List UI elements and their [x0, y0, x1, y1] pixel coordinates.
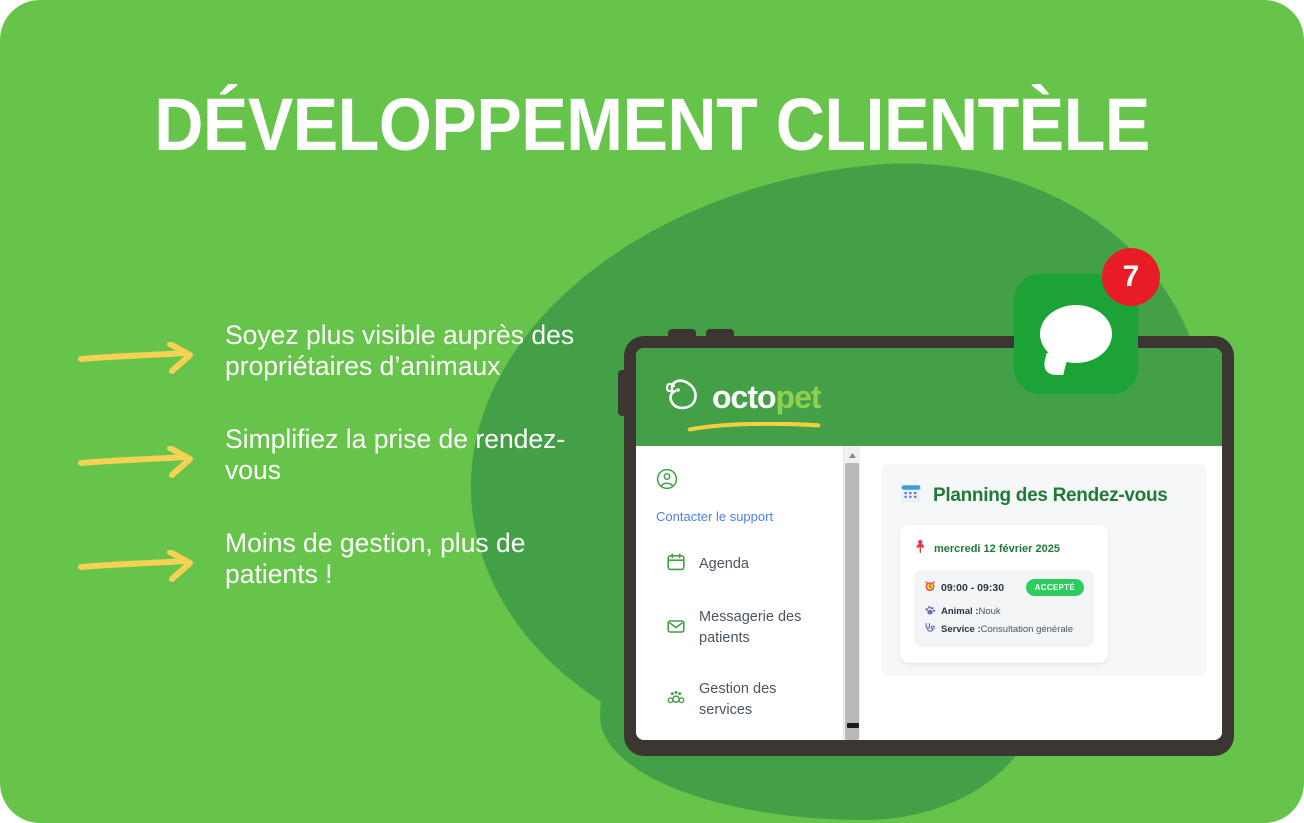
- tablet-button-side: [618, 370, 626, 416]
- calendar-icon: [666, 552, 686, 577]
- slot-header: 09:00 - 09:30 ACCEPTÉ: [924, 579, 1084, 596]
- paw-group-icon: [666, 688, 686, 713]
- arrow-right-icon: [78, 424, 223, 480]
- bullet-list: Soyez plus visible auprès des propriétai…: [78, 320, 598, 632]
- tablet-button-top-left: [668, 329, 696, 339]
- scroll-up-arrow-icon[interactable]: [844, 448, 860, 462]
- appointment-date-row: mercredi 12 février 2025: [914, 539, 1094, 558]
- sidebar-item-services[interactable]: Gestion des services: [666, 679, 843, 721]
- sidebar-item-messagerie[interactable]: Messagerie des patients: [666, 607, 843, 649]
- list-item-label: Soyez plus visible auprès des propriétai…: [223, 320, 583, 383]
- notification-badge: 7: [1102, 248, 1160, 306]
- list-item: Soyez plus visible auprès des propriétai…: [78, 320, 598, 384]
- service-label: Service :: [941, 624, 981, 635]
- logo-text-primary: octo: [712, 379, 776, 415]
- appointment-card[interactable]: mercredi 12 février 2025: [900, 525, 1108, 663]
- slide-canvas: DÉVELOPPEMENT CLIENTÈLE Soyez plus visib…: [0, 0, 1304, 823]
- chat-notification-tile[interactable]: 7: [1014, 274, 1138, 394]
- user-circle-icon[interactable]: [656, 468, 843, 495]
- chat-bubble-icon: [1040, 305, 1112, 363]
- pushpin-icon: [914, 539, 927, 558]
- sidebar-scrollbar[interactable]: [843, 446, 860, 740]
- slot-time: 09:00 - 09:30: [941, 582, 1004, 594]
- animal-label: Animal :: [941, 606, 978, 617]
- animal-value: Nouk: [978, 606, 1000, 617]
- dog-head-icon: [664, 376, 708, 419]
- tablet-button-top-right: [706, 329, 734, 339]
- planning-panel: Planning des Rendez-vous: [882, 464, 1206, 676]
- list-item: Simplifiez la prise de rendez-vous: [78, 424, 598, 488]
- list-item: Moins de gestion, plus de patients !: [78, 528, 598, 592]
- logo-underline-icon: [674, 422, 834, 432]
- stethoscope-icon: [924, 622, 936, 637]
- sidebar-item-agenda[interactable]: Agenda: [666, 552, 843, 577]
- tablet-device: octopet: [624, 336, 1234, 756]
- panel-title: Planning des Rendez-vous: [933, 485, 1168, 507]
- scrollbar-mark: [847, 723, 859, 728]
- support-link[interactable]: Contacter le support: [656, 509, 843, 524]
- planning-header: Planning des Rendez-vous: [900, 482, 1190, 509]
- alarm-clock-icon: [924, 580, 936, 595]
- arrow-right-icon: [78, 320, 223, 376]
- main-content: Planning des Rendez-vous: [860, 446, 1222, 740]
- sidebar-item-label: Gestion des services: [699, 679, 809, 721]
- sidebar-item-label: Messagerie des patients: [699, 607, 809, 649]
- app-logo[interactable]: octopet: [664, 370, 821, 424]
- slot-service-row: Service :Consultation générale: [924, 622, 1084, 637]
- list-item-label: Simplifiez la prise de rendez-vous: [223, 424, 583, 487]
- list-item-label: Moins de gestion, plus de patients !: [223, 528, 583, 591]
- service-value: Consultation générale: [981, 624, 1073, 635]
- sidebar: Contacter le support Agenda: [636, 446, 843, 740]
- sidebar-item-label: Agenda: [699, 554, 749, 575]
- envelope-icon: [666, 616, 686, 641]
- tablet-screen: octopet: [636, 348, 1222, 740]
- app-body: Contacter le support Agenda: [636, 446, 1222, 740]
- appointment-slot: 09:00 - 09:30 ACCEPTÉ: [914, 570, 1094, 647]
- logo-text-secondary: pet: [776, 379, 821, 415]
- calendar-emoji-icon: [900, 482, 922, 509]
- slot-animal-row: Animal :Nouk: [924, 604, 1084, 619]
- paw-icon: [924, 604, 936, 619]
- arrow-right-icon: [78, 528, 223, 584]
- slot-time-group: 09:00 - 09:30: [924, 580, 1004, 595]
- status-badge: ACCEPTÉ: [1026, 579, 1084, 596]
- page-title: DÉVELOPPEMENT CLIENTÈLE: [52, 86, 1252, 164]
- appointment-date: mercredi 12 février 2025: [934, 543, 1060, 555]
- scrollbar-thumb[interactable]: [845, 463, 859, 740]
